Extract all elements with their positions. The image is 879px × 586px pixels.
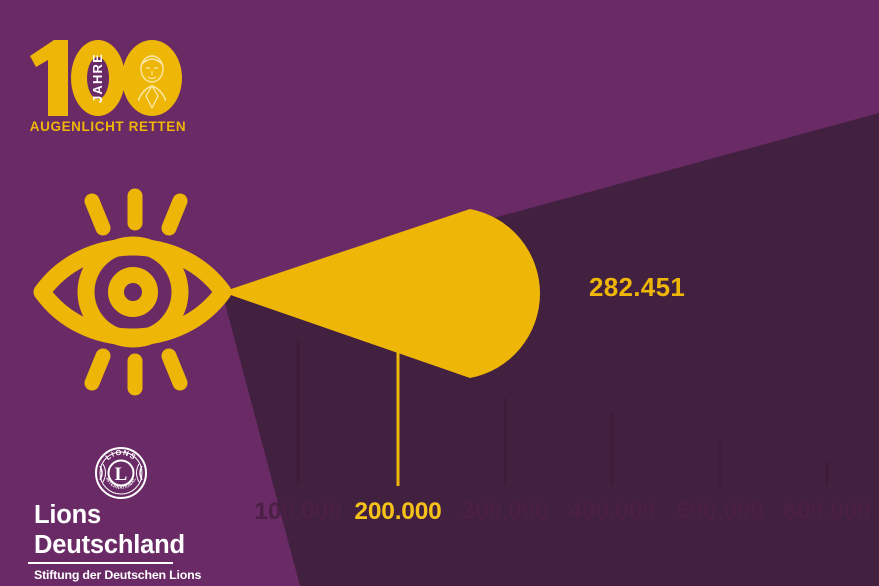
eye-ray-upper-left [92, 201, 103, 228]
axis-label-100000: 100.000 [254, 498, 341, 526]
logo-jahre-text: JAHRE [90, 53, 105, 103]
eye-ray-lower-left [92, 356, 103, 383]
lions-emblem-wrap: L LIONS INTERNATIONAL [28, 446, 213, 500]
logo-tagline: AUGENLICHT RETTEN [30, 119, 186, 134]
logo-portrait-icon [131, 48, 173, 108]
logo-digit-one [30, 40, 68, 116]
eye-ray-lower-right [169, 356, 180, 383]
lions-logo-block: L LIONS INTERNATIONAL Lions Deutschland … [28, 446, 213, 584]
axis-label-300000: 300.000 [461, 498, 548, 526]
beam-value-label: 282.451 [589, 272, 685, 303]
lions-name: Lions Deutschland [28, 500, 173, 564]
lions-emblem-letter: L [114, 464, 127, 485]
axis-label-500000: 500.000 [676, 498, 763, 526]
axis-label-200000: 200.000 [354, 498, 441, 526]
lions-tagline: Stiftung der Deutschen Lions [28, 564, 213, 584]
axis-label-600000: 600.000 [783, 498, 870, 526]
anniversary-logo: JAHRE [28, 34, 188, 134]
eye-ray-upper-right [169, 201, 180, 228]
axis-label-400000: 400.000 [568, 498, 655, 526]
infographic-canvas: JAHRE [0, 0, 879, 586]
lions-emblem-icon: L LIONS INTERNATIONAL [94, 446, 148, 500]
logo-digit-zero-second [122, 40, 182, 116]
